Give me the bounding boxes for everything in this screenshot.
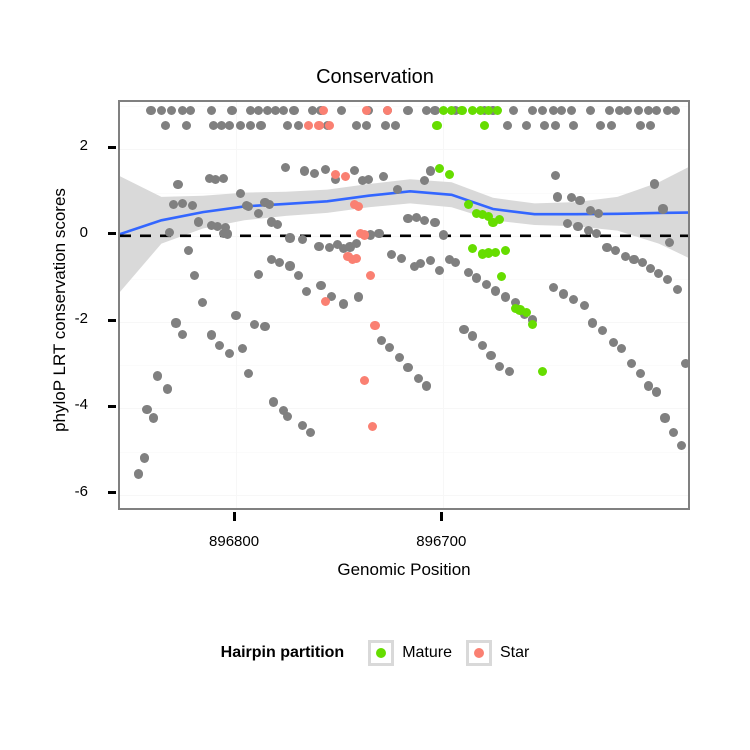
point-other — [350, 166, 359, 175]
point-other — [352, 239, 361, 248]
point-other — [236, 121, 245, 130]
point-mature — [464, 200, 473, 209]
y-tick-mark — [108, 146, 116, 149]
confidence-band — [120, 165, 690, 292]
point-other — [223, 229, 232, 238]
point-other — [580, 301, 589, 310]
point-mature — [522, 308, 531, 317]
point-other — [422, 381, 431, 390]
point-other — [472, 273, 481, 282]
legend-entry-mature[interactable]: Mature — [368, 640, 452, 666]
loess-smoother — [120, 102, 690, 510]
point-other — [227, 106, 236, 115]
point-star — [348, 255, 357, 264]
point-other — [269, 397, 278, 406]
point-other — [575, 196, 584, 205]
y-tick-label: -4 — [48, 396, 88, 413]
point-other — [486, 351, 495, 360]
point-other — [339, 299, 348, 308]
point-star — [321, 297, 330, 306]
point-star — [360, 376, 369, 385]
point-other — [194, 217, 203, 226]
point-other — [171, 318, 180, 327]
point-other — [573, 222, 582, 231]
legend-dot-mature — [376, 648, 386, 658]
point-other — [634, 106, 643, 115]
point-other — [459, 325, 468, 334]
x-tick-label: 896700 — [396, 533, 486, 550]
point-other — [207, 330, 216, 339]
y-tick-label: -2 — [48, 310, 88, 327]
point-other — [607, 121, 616, 130]
point-other — [142, 405, 151, 414]
point-other — [665, 238, 674, 247]
point-other — [416, 259, 425, 268]
legend-label-star: Star — [500, 644, 529, 662]
point-other — [149, 413, 158, 422]
point-other — [553, 192, 562, 201]
y-tick-mark — [108, 405, 116, 408]
point-other — [551, 121, 560, 130]
point-other — [468, 331, 477, 340]
point-other — [663, 275, 672, 284]
point-other — [285, 233, 294, 242]
point-other — [491, 286, 500, 295]
point-other — [501, 292, 510, 301]
y-tick-mark — [108, 491, 116, 494]
point-mature — [432, 121, 441, 130]
y-tick-label: -6 — [48, 483, 88, 500]
point-other — [265, 200, 274, 209]
point-other — [294, 271, 303, 280]
point-other — [559, 289, 568, 298]
point-other — [314, 242, 323, 251]
point-other — [231, 311, 240, 320]
point-other — [285, 261, 294, 270]
point-other — [403, 106, 412, 115]
point-other — [435, 266, 444, 275]
page-title: Conservation — [0, 66, 750, 89]
point-other — [551, 171, 560, 180]
point-star — [319, 106, 328, 115]
point-other — [354, 292, 363, 301]
point-other — [316, 281, 325, 290]
point-other — [260, 322, 269, 331]
point-other — [660, 413, 669, 422]
legend-title: Hairpin partition — [221, 644, 345, 662]
point-other — [658, 204, 667, 213]
point-other — [636, 121, 645, 130]
y-tick-mark — [108, 232, 116, 235]
plot-panel — [118, 100, 690, 510]
point-other — [300, 166, 309, 175]
point-other — [173, 180, 182, 189]
point-other — [321, 165, 330, 174]
point-other — [134, 469, 143, 478]
point-other — [146, 106, 155, 115]
point-other — [294, 121, 303, 130]
legend-dot-star — [474, 648, 484, 658]
y-tick-label: 2 — [48, 137, 88, 154]
point-other — [244, 202, 253, 211]
point-star — [360, 230, 369, 239]
legend-key-mature — [368, 640, 394, 666]
point-other — [420, 216, 429, 225]
point-other — [403, 363, 412, 372]
point-mature — [493, 106, 502, 115]
y-tick-mark — [108, 319, 116, 322]
point-mature — [495, 215, 504, 224]
point-other — [522, 121, 531, 130]
point-other — [379, 172, 388, 181]
point-star — [370, 321, 379, 330]
point-other — [588, 318, 597, 327]
point-other — [140, 453, 149, 462]
x-tick-label: 896800 — [189, 533, 279, 550]
point-mature — [528, 320, 537, 329]
point-other — [652, 387, 661, 396]
legend: Hairpin partition Mature Star — [0, 640, 750, 666]
x-tick-mark — [233, 512, 236, 521]
x-axis-label: Genomic Position — [118, 560, 690, 580]
point-mature — [491, 248, 500, 257]
point-other — [650, 179, 659, 188]
point-other — [377, 336, 386, 345]
point-other — [178, 330, 187, 339]
point-other — [439, 230, 448, 239]
point-other — [306, 428, 315, 437]
point-other — [236, 189, 245, 198]
x-tick-mark — [440, 512, 443, 521]
point-other — [430, 218, 439, 227]
point-other — [681, 359, 690, 368]
point-other — [393, 185, 402, 194]
point-star — [314, 121, 323, 130]
point-other — [207, 106, 216, 115]
legend-entry-star[interactable]: Star — [466, 640, 529, 666]
point-mature — [457, 106, 466, 115]
point-other — [385, 343, 394, 352]
chart-root: Conservation phyloP LRT conservation sco… — [0, 0, 750, 750]
legend-label-mature: Mature — [402, 644, 452, 662]
point-other — [256, 121, 265, 130]
point-other — [414, 374, 423, 383]
point-other — [153, 371, 162, 380]
point-other — [374, 229, 383, 238]
point-other — [669, 428, 678, 437]
legend-key-star — [466, 640, 492, 666]
y-tick-label: 0 — [48, 224, 88, 241]
point-other — [163, 384, 172, 393]
point-other — [289, 106, 298, 115]
point-other — [298, 235, 307, 244]
point-other — [677, 441, 686, 450]
point-star — [354, 202, 363, 211]
point-other — [549, 283, 558, 292]
point-other — [495, 362, 504, 371]
point-other — [605, 106, 614, 115]
